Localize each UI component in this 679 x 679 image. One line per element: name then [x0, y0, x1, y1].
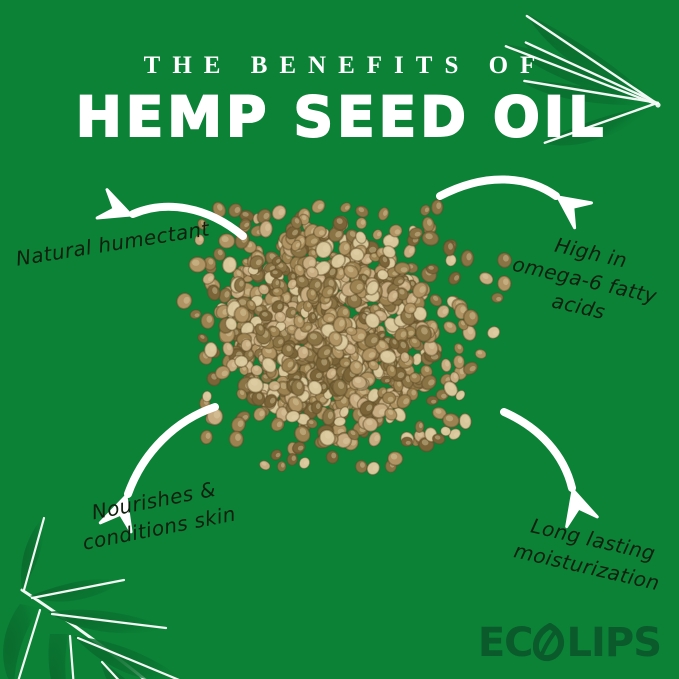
arrow-omega-6	[440, 179, 556, 196]
leaf-icon	[533, 623, 567, 663]
brand-logo: EC LIPS	[478, 623, 661, 663]
brand-text-before: EC	[478, 623, 533, 663]
arrowhead-natural-humectant	[95, 190, 136, 230]
poster-canvas: THE BENEFITS OF HEMP SEED OIL Natural hu…	[0, 0, 679, 679]
arrowhead-omega-6	[549, 184, 593, 227]
headline-block: THE BENEFITS OF HEMP SEED OIL	[0, 52, 679, 145]
brand-text-after: LIPS	[567, 623, 662, 663]
page-title: HEMP SEED OIL	[0, 90, 679, 145]
arrow-moisturization	[504, 412, 572, 488]
eyebrow-text: THE BENEFITS OF	[0, 52, 679, 80]
